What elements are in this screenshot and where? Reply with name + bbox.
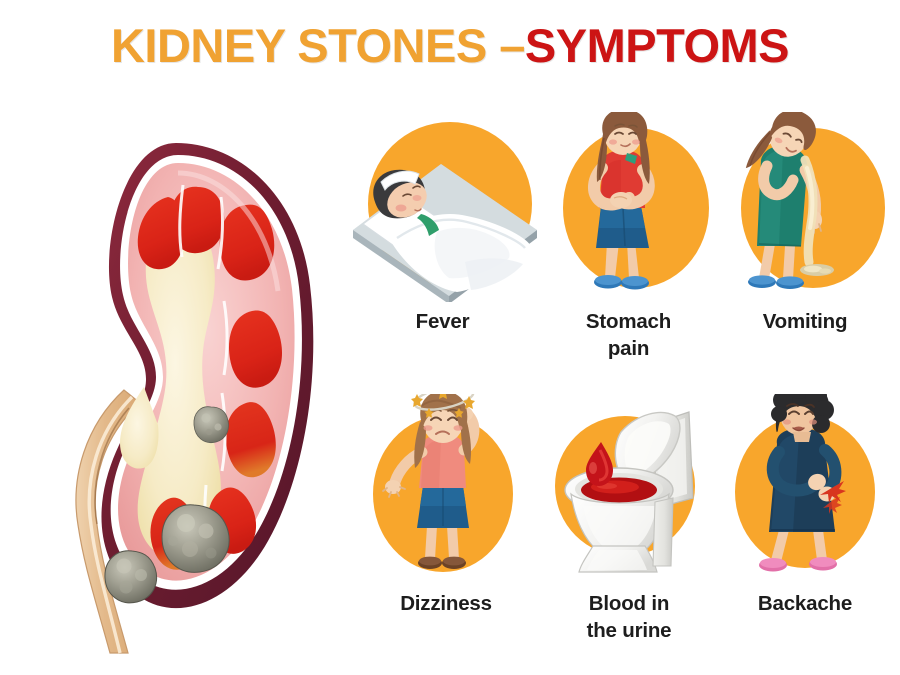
kidney-stone (162, 505, 229, 573)
girl-vomiting-icon (717, 112, 893, 302)
symptom-grid: Fever (345, 112, 893, 664)
symptom-label-fever: Fever (345, 308, 540, 335)
symptom-label-stomach-pain: Stomach pain (541, 308, 716, 362)
kidney-stone (105, 551, 157, 603)
toilet-with-blood-icon (541, 394, 717, 584)
girl-dizzy-with-stars-icon (351, 394, 541, 584)
symptom-label-dizziness: Dizziness (351, 590, 541, 617)
kidney-cross-section-illustration (28, 125, 328, 655)
page-title-red-segment: SYMPTOMS (525, 19, 789, 72)
page-title-orange-segment: KIDNEY STONES – (111, 19, 525, 72)
symptom-label-vomiting: Vomiting (717, 308, 893, 335)
page-title: KIDNEY STONES –SYMPTOMS (0, 18, 900, 73)
kidney-stone (194, 407, 229, 443)
woman-holding-lower-back-icon (717, 394, 893, 584)
symptom-label-blood-in-the-urine: Blood in the urine (541, 590, 717, 644)
person-in-bed-with-cold-compress-icon (345, 112, 540, 302)
symptom-label-backache: Backache (717, 590, 893, 617)
girl-holding-stomach-icon (541, 112, 716, 302)
